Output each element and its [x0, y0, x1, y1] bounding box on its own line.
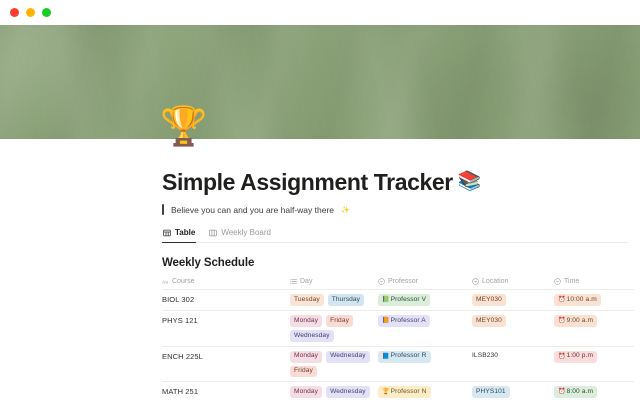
column-header-location-label: Location — [482, 278, 508, 285]
cell-time[interactable]: ⏰10:00 a.m — [554, 290, 634, 311]
day-tag[interactable]: Wednesday — [326, 351, 370, 363]
location-tag[interactable]: PHYS101 — [472, 386, 510, 398]
page-title-text: Simple Assignment Tracker — [162, 169, 453, 195]
professor-tag[interactable]: 📙Professor A — [378, 315, 430, 327]
day-tag[interactable]: Tuesday — [290, 294, 324, 306]
cell-location[interactable]: PHYS101 — [472, 382, 554, 400]
select-icon — [554, 278, 561, 285]
location-tag[interactable]: MEY030 — [472, 315, 506, 327]
tab-table-label: Table — [175, 228, 195, 237]
column-header-course-label: Course — [172, 278, 195, 285]
table-header: Aa Course — [162, 276, 634, 290]
day-tag[interactable]: Friday — [326, 315, 353, 327]
column-header-time[interactable]: Time — [554, 276, 634, 290]
cell-course[interactable]: BIOL 302 — [162, 290, 290, 311]
column-header-professor-label: Professor — [388, 278, 418, 285]
cell-course[interactable]: PHYS 121 — [162, 311, 290, 347]
cell-time[interactable]: ⏰9:00 a.m — [554, 311, 634, 347]
column-header-day-label: Day — [300, 278, 312, 285]
professor-tag[interactable]: 📗Professor V — [378, 294, 430, 306]
table-icon — [163, 229, 171, 237]
day-tag[interactable]: Wednesday — [290, 330, 334, 342]
window-maximize-button[interactable] — [42, 8, 51, 17]
day-tag[interactable]: Monday — [290, 386, 322, 398]
cover-texture-layer-4 — [0, 25, 640, 139]
page-title[interactable]: Simple Assignment Tracker 📚 — [162, 169, 640, 195]
time-tag[interactable]: ⏰9:00 a.m — [554, 315, 597, 327]
professor-tag[interactable]: 🏆Professor N — [378, 386, 431, 398]
cell-location[interactable]: MEY030 — [472, 311, 554, 347]
sparkles-icon: ✨ — [341, 206, 350, 214]
cell-course[interactable]: ENCH 225L — [162, 346, 290, 382]
course-name: MATH 251 — [162, 386, 284, 396]
time-tag[interactable]: ⏰1:00 p.m — [554, 351, 597, 363]
cell-professor[interactable]: 🏆Professor N — [378, 382, 472, 400]
table-body: BIOL 302TuesdayThursday📗Professor VMEY03… — [162, 290, 634, 400]
cover-texture-layer-2 — [0, 25, 640, 139]
cell-day[interactable]: MondayWednesdayFriday — [290, 346, 378, 382]
table-row[interactable]: ENCH 225LMondayWednesdayFriday📘Professor… — [162, 346, 634, 382]
column-header-course[interactable]: Aa Course — [162, 276, 290, 290]
view-tabs: Table Weekly Board — [162, 226, 628, 243]
time-tag-label: 8:00 a.m — [567, 389, 593, 396]
cell-day[interactable]: MondayFridayWednesday — [290, 311, 378, 347]
tab-weekly-board-label: Weekly Board — [221, 228, 271, 237]
book-icon: 🏆 — [382, 389, 390, 395]
window-close-button[interactable] — [10, 8, 19, 17]
alarm-clock-icon: ⏰ — [558, 318, 566, 324]
alarm-clock-icon: ⏰ — [558, 354, 566, 360]
page-body: Simple Assignment Tracker 📚 Believe you … — [0, 169, 640, 400]
professor-tag-label: Professor V — [391, 297, 427, 304]
location-tag[interactable]: ILSB230 — [472, 351, 502, 363]
time-tag[interactable]: ⏰10:00 a.m — [554, 294, 601, 306]
time-tag-label: 10:00 a.m — [567, 297, 597, 304]
page-icon-trophy[interactable]: 🏆 — [160, 108, 207, 146]
column-header-location[interactable]: Location — [472, 276, 554, 290]
day-tag[interactable]: Monday — [290, 351, 322, 363]
day-tag[interactable]: Thursday — [328, 294, 364, 306]
table-header-row: Aa Course — [162, 276, 634, 290]
section-title: Weekly Schedule — [162, 257, 640, 269]
window-minimize-button[interactable] — [26, 8, 35, 17]
cover-texture-layer-3 — [0, 25, 640, 139]
professor-tag[interactable]: 📘Professor R — [378, 351, 431, 363]
cell-day[interactable]: MondayWednesdayFriday — [290, 382, 378, 400]
cell-professor[interactable]: 📙Professor A — [378, 311, 472, 347]
cell-professor[interactable]: 📗Professor V — [378, 290, 472, 311]
quote-bar — [162, 204, 164, 215]
column-header-professor[interactable]: Professor — [378, 276, 472, 290]
column-header-day[interactable]: Day — [290, 276, 378, 290]
alarm-clock-icon: ⏰ — [558, 297, 566, 303]
time-tag-label: 1:00 p.m — [567, 353, 593, 360]
alarm-clock-icon: ⏰ — [558, 389, 566, 395]
multi-select-icon — [290, 278, 297, 285]
course-name: BIOL 302 — [162, 294, 284, 304]
app-window: 🏆 Simple Assignment Tracker 📚 Believe yo… — [0, 0, 640, 400]
svg-text:Aa: Aa — [162, 280, 168, 286]
professor-tag-label: Professor N — [391, 389, 427, 396]
board-icon — [209, 229, 217, 237]
select-icon — [378, 278, 385, 285]
day-tag[interactable]: Friday — [290, 366, 317, 378]
table-row[interactable]: PHYS 121MondayFridayWednesday📙Professor … — [162, 311, 634, 347]
column-header-time-label: Time — [564, 278, 579, 285]
table-row[interactable]: MATH 251MondayWednesdayFriday🏆Professor … — [162, 382, 634, 400]
time-tag-label: 9:00 a.m — [567, 318, 593, 325]
course-name: PHYS 121 — [162, 315, 284, 325]
cell-course[interactable]: MATH 251 — [162, 382, 290, 400]
cover-texture-layer-1 — [0, 25, 640, 139]
professor-tag-label: Professor A — [391, 318, 426, 325]
select-icon — [472, 278, 479, 285]
book-icon: 📙 — [382, 318, 390, 324]
cell-professor[interactable]: 📘Professor R — [378, 346, 472, 382]
book-icon: 📘 — [382, 354, 390, 360]
professor-tag-label: Professor R — [391, 353, 427, 360]
cell-time[interactable]: ⏰8:00 a.m — [554, 382, 634, 400]
course-name: ENCH 225L — [162, 351, 284, 361]
table-row[interactable]: BIOL 302TuesdayThursday📗Professor VMEY03… — [162, 290, 634, 311]
books-icon: 📚 — [458, 171, 481, 193]
cell-time[interactable]: ⏰1:00 p.m — [554, 346, 634, 382]
cell-location[interactable]: MEY030 — [472, 290, 554, 311]
quote-text: Believe you can and you are half-way the… — [171, 205, 334, 215]
book-icon: 📗 — [382, 297, 390, 303]
text-type-icon: Aa — [162, 278, 169, 285]
schedule-table: Aa Course — [162, 276, 634, 400]
page-cover-image[interactable] — [0, 25, 640, 139]
quote-callout: Believe you can and you are half-way the… — [162, 204, 640, 215]
day-tag[interactable]: Wednesday — [326, 386, 370, 398]
day-tag[interactable]: Monday — [290, 315, 322, 327]
time-tag[interactable]: ⏰8:00 a.m — [554, 386, 597, 398]
cell-day[interactable]: TuesdayThursday — [290, 290, 378, 311]
location-tag[interactable]: MEY030 — [472, 294, 506, 306]
cell-location[interactable]: ILSB230 — [472, 346, 554, 382]
tab-table[interactable]: Table — [162, 226, 196, 242]
window-titlebar — [0, 0, 640, 25]
tab-weekly-board[interactable]: Weekly Board — [208, 226, 272, 242]
